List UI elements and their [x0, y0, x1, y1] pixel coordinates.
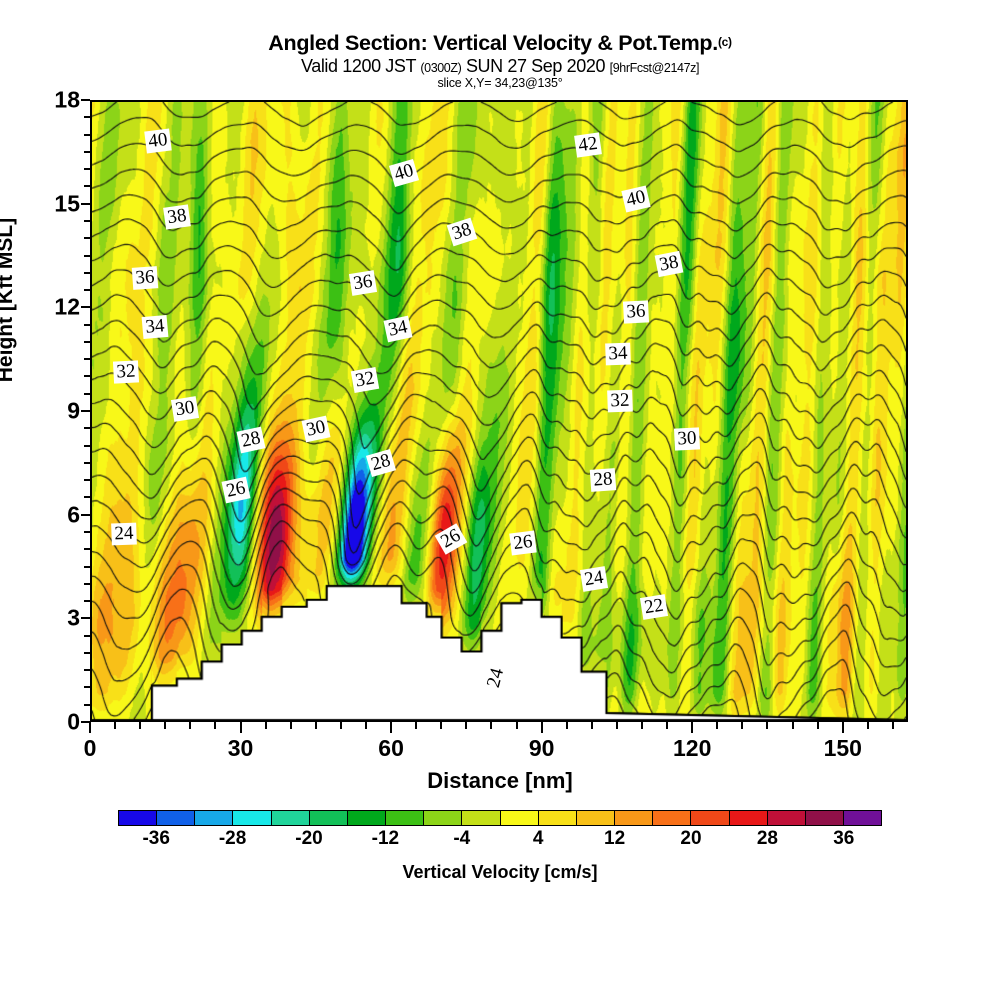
y-tick-major — [81, 306, 90, 308]
contour-label: 38 — [163, 204, 191, 229]
colorbar-segment — [767, 811, 805, 825]
y-tick-minor — [84, 686, 90, 688]
y-tick-minor — [84, 358, 90, 360]
contour-label: 24 — [111, 523, 137, 546]
x-tick-minor — [465, 722, 467, 729]
y-tick-label: 15 — [8, 190, 80, 217]
colorbar-segment — [500, 811, 538, 825]
y-tick-label: 3 — [8, 605, 80, 632]
x-tick-minor — [641, 722, 643, 729]
y-tick-minor — [84, 185, 90, 187]
y-tick-minor — [84, 531, 90, 533]
x-tick-minor — [440, 722, 442, 729]
contour-label: 30 — [171, 396, 199, 422]
colorbar-segment — [576, 811, 614, 825]
x-tick-minor — [139, 722, 141, 729]
x-tick-major — [390, 722, 392, 733]
colorbar-segment — [652, 811, 690, 825]
contour-label: 36 — [623, 300, 649, 323]
contour-label: 32 — [607, 390, 633, 413]
y-tick-minor — [84, 375, 90, 377]
colorbar-segment — [385, 811, 423, 825]
contour-label: 28 — [590, 468, 616, 492]
y-tick-minor — [84, 600, 90, 602]
x-tick-minor — [566, 722, 568, 729]
y-tick-major — [81, 99, 90, 101]
x-tick-minor — [214, 722, 216, 729]
valid-time-label: Valid 1200 JST — [301, 56, 416, 76]
colorbar-tick-label: -4 — [453, 828, 470, 850]
y-axis-title: Height [Kft MSL] — [0, 170, 18, 430]
x-tick-major — [240, 722, 242, 733]
colorbar-tick-label: 12 — [604, 828, 625, 850]
colorbar-tick-label: 28 — [757, 828, 778, 850]
colorbar-segment — [271, 811, 309, 825]
x-tick-minor — [265, 722, 267, 729]
y-tick-major — [81, 203, 90, 205]
colorbar-segment — [423, 811, 461, 825]
y-tick-minor — [84, 134, 90, 136]
title-block: Angled Section: Vertical Velocity & Pot.… — [0, 32, 1000, 90]
x-tick-major — [541, 722, 543, 733]
y-tick-minor — [84, 583, 90, 585]
valid-date-label: SUN 27 Sep 2020 — [466, 56, 605, 76]
y-tick-minor — [84, 289, 90, 291]
y-axis-ticks — [90, 100, 91, 722]
contour-label: 42 — [574, 132, 602, 157]
y-tick-minor — [84, 272, 90, 274]
y-tick-minor — [84, 255, 90, 257]
valid-utc-label: (0300Z) — [420, 61, 461, 75]
colorbar-segment — [461, 811, 499, 825]
colorbar-tick-label: -28 — [219, 828, 246, 850]
contour-label: 36 — [132, 266, 158, 290]
y-tick-minor — [84, 479, 90, 481]
y-tick-major — [81, 617, 90, 619]
colorbar-tick-label: 20 — [680, 828, 701, 850]
x-tick-minor — [616, 722, 618, 729]
colorbar-tick-label: -36 — [142, 828, 169, 850]
colorbar-segment — [690, 811, 728, 825]
colorbar-segment — [843, 811, 881, 825]
y-tick-minor — [84, 652, 90, 654]
x-tick-label: 120 — [673, 735, 711, 762]
contour-label: 36 — [349, 270, 377, 296]
cross-section-plot: 4038363432302826244038363432302826244240… — [90, 100, 908, 722]
copyright-mark: (c) — [718, 35, 732, 49]
y-tick-minor — [84, 548, 90, 550]
x-axis-title: Distance [nm] — [0, 768, 1000, 794]
x-tick-label: 0 — [84, 735, 97, 762]
colorbar-tick-label: 36 — [833, 828, 854, 850]
contour-label: 32 — [351, 367, 379, 393]
colorbar-segment — [232, 811, 270, 825]
vertical-velocity-field — [92, 102, 906, 720]
x-tick-minor — [290, 722, 292, 729]
y-tick-minor — [84, 393, 90, 395]
x-tick-label: 90 — [529, 735, 555, 762]
colorbar-segment — [194, 811, 232, 825]
valid-time-subtitle: Valid 1200 JST (0300Z) SUN 27 Sep 2020 [… — [0, 56, 1000, 77]
x-tick-minor — [415, 722, 417, 729]
colorbar-segment — [309, 811, 347, 825]
x-axis-tick-labels: 0306090120150 — [90, 735, 908, 765]
x-tick-label: 150 — [824, 735, 862, 762]
y-tick-label: 0 — [8, 709, 80, 736]
x-tick-label: 30 — [228, 735, 254, 762]
contour-label: 34 — [605, 343, 631, 366]
x-axis-ticks — [90, 722, 908, 736]
colorbar — [118, 810, 882, 826]
x-tick-label: 60 — [378, 735, 404, 762]
x-tick-major — [691, 722, 693, 733]
x-tick-minor — [716, 722, 718, 729]
contour-label: 32 — [113, 360, 139, 383]
contour-label: 30 — [674, 427, 700, 450]
contour-label: 22 — [640, 594, 668, 620]
y-tick-minor — [84, 220, 90, 222]
y-tick-minor — [84, 462, 90, 464]
contour-label: 34 — [142, 315, 169, 339]
x-tick-minor — [114, 722, 116, 729]
y-tick-minor — [84, 427, 90, 429]
slice-subtitle: slice X,Y= 34,23@135° — [0, 76, 1000, 90]
page-title: Angled Section: Vertical Velocity & Pot.… — [0, 32, 1000, 55]
main-title-text: Angled Section: Vertical Velocity & Pot.… — [268, 31, 718, 55]
contour-label: 26 — [509, 531, 536, 556]
x-tick-minor — [164, 722, 166, 729]
colorbar-segment — [729, 811, 767, 825]
y-tick-minor — [84, 635, 90, 637]
x-tick-minor — [315, 722, 317, 729]
colorbar-tick-label: -20 — [295, 828, 322, 850]
y-tick-minor — [84, 445, 90, 447]
y-tick-minor — [84, 669, 90, 671]
y-tick-minor — [84, 341, 90, 343]
contour-label: 38 — [655, 251, 684, 277]
x-tick-minor — [766, 722, 768, 729]
x-tick-minor — [516, 722, 518, 729]
colorbar-segment — [156, 811, 194, 825]
y-tick-minor — [84, 151, 90, 153]
x-tick-minor — [892, 722, 894, 729]
contour-label: 24 — [580, 566, 608, 592]
x-tick-minor — [741, 722, 743, 729]
colorbar-segment — [538, 811, 576, 825]
colorbar-tick-label: 4 — [533, 828, 544, 850]
y-tick-major — [81, 410, 90, 412]
x-tick-minor — [817, 722, 819, 729]
colorbar-tick-labels: -36-28-20-12-4412202836 — [118, 828, 882, 854]
colorbar-title: Vertical Velocity [cm/s] — [0, 862, 1000, 883]
x-tick-minor — [365, 722, 367, 729]
x-tick-minor — [340, 722, 342, 729]
colorbar-segment — [805, 811, 843, 825]
x-tick-minor — [189, 722, 191, 729]
x-tick-major — [842, 722, 844, 733]
colorbar-segment — [614, 811, 652, 825]
y-tick-label: 9 — [8, 398, 80, 425]
y-tick-label: 6 — [8, 501, 80, 528]
colorbar-tick-label: -12 — [372, 828, 399, 850]
y-tick-minor — [84, 237, 90, 239]
x-tick-minor — [792, 722, 794, 729]
y-tick-minor — [84, 168, 90, 170]
x-tick-major — [89, 722, 91, 733]
y-tick-minor — [84, 704, 90, 706]
y-tick-minor — [84, 566, 90, 568]
x-tick-minor — [490, 722, 492, 729]
colorbar-segment — [347, 811, 385, 825]
y-tick-label: 12 — [8, 294, 80, 321]
y-tick-label: 18 — [8, 87, 80, 114]
x-tick-minor — [591, 722, 593, 729]
contour-label: 40 — [144, 129, 171, 154]
y-tick-minor — [84, 116, 90, 118]
y-tick-major — [81, 514, 90, 516]
y-tick-minor — [84, 496, 90, 498]
y-tick-minor — [84, 324, 90, 326]
forecast-label: [9hrFcst@2147z] — [610, 61, 699, 75]
x-tick-minor — [867, 722, 869, 729]
x-tick-minor — [666, 722, 668, 729]
colorbar-segment — [119, 811, 156, 825]
